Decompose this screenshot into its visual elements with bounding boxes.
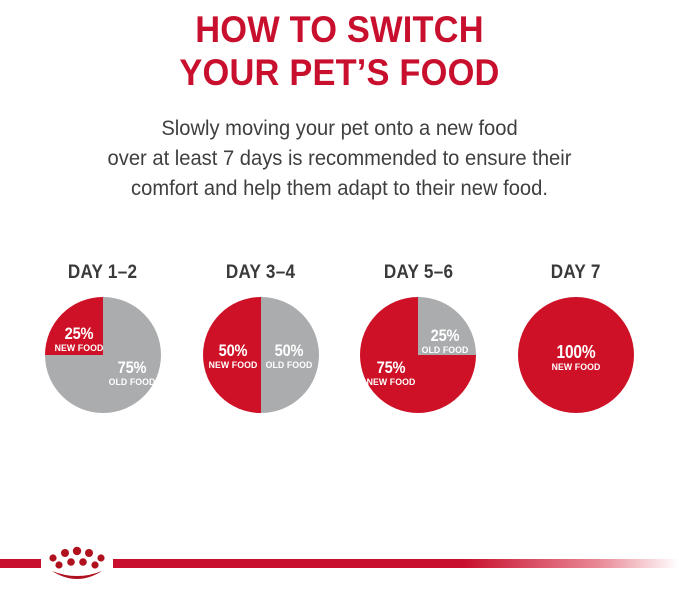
footer-rule-right (113, 559, 679, 568)
slice-word-old-1: OLD FOOD (103, 378, 160, 388)
slice-label-old-1: 75% OLD FOOD (101, 359, 163, 388)
pie-chart-day-7: DAY 7 100% NEW FOOD (501, 262, 651, 432)
slice-label-new-1: 25% NEW FOOD (51, 325, 107, 354)
slice-pct-new-3: 75% (366, 359, 416, 376)
intro-line-1: Slowly moving your pet onto a new food (14, 114, 666, 144)
slice-label-old-3: 25% OLD FOOD (416, 327, 474, 356)
day-label-3: DAY 5–6 (384, 262, 453, 284)
footer-rule-left (0, 559, 41, 568)
pie-graphic-day-1-2: 25% NEW FOOD 75% OLD FOOD (45, 297, 161, 413)
slice-word-new-4: NEW FOOD (543, 363, 609, 373)
slice-label-new-3: 75% NEW FOOD (362, 359, 420, 388)
infographic-page: { "headline": { "line1": "HOW TO SWITCH"… (0, 0, 679, 594)
slice-label-old-2: 50% OLD FOOD (261, 342, 317, 371)
slice-pct-old-3: 25% (420, 327, 470, 344)
slice-pct-new-2: 50% (209, 342, 257, 359)
pie-chart-day-5-6: DAY 5–6 25% OLD FOOD 75% NEW FOOD (343, 262, 493, 432)
pie-graphic-day-5-6: 25% OLD FOOD 75% NEW FOOD (360, 297, 476, 413)
slice-label-new-2: 50% NEW FOOD (205, 342, 261, 371)
slice-pct-old-1: 75% (105, 359, 158, 376)
intro-line-3: comfort and help them adapt to their new… (14, 174, 666, 204)
slice-word-old-2: OLD FOOD (263, 361, 315, 371)
title-line-2: YOUR PET’S FOOD (24, 51, 655, 94)
pie-chart-day-3-4: DAY 3–4 50% NEW FOOD 50% OLD FOOD (186, 262, 336, 432)
pie-chart-day-1-2: DAY 1–2 25% NEW FOOD 75% OLD FOOD (28, 262, 178, 432)
slice-pct-old-2: 50% (265, 342, 313, 359)
day-label-1: DAY 1–2 (68, 262, 137, 284)
slice-pct-new-4: 100% (545, 343, 607, 361)
page-title: HOW TO SWITCH YOUR PET’S FOOD (0, 0, 679, 94)
title-line-1: HOW TO SWITCH (24, 8, 655, 51)
slice-pct-new-1: 25% (55, 325, 103, 342)
pie-disc-1 (45, 297, 161, 413)
pie-graphic-day-7: 100% NEW FOOD (518, 297, 634, 413)
slice-word-new-2: NEW FOOD (207, 361, 259, 371)
day-label-4: DAY 7 (551, 262, 601, 284)
pie-graphic-day-3-4: 50% NEW FOOD 50% OLD FOOD (203, 297, 319, 413)
intro-paragraph: Slowly moving your pet onto a new food o… (0, 114, 679, 204)
pie-chart-row: DAY 1–2 25% NEW FOOD 75% OLD FOOD DAY 3–… (0, 262, 679, 432)
crown-icon (44, 545, 110, 581)
slice-word-new-1: NEW FOOD (53, 344, 105, 354)
footer (0, 540, 679, 594)
slice-word-old-3: OLD FOOD (419, 346, 472, 356)
slice-word-new-3: NEW FOOD (365, 378, 418, 388)
slice-label-new-4: 100% NEW FOOD (540, 343, 612, 373)
intro-line-2: over at least 7 days is recommended to e… (14, 144, 666, 174)
day-label-2: DAY 3–4 (226, 262, 295, 284)
